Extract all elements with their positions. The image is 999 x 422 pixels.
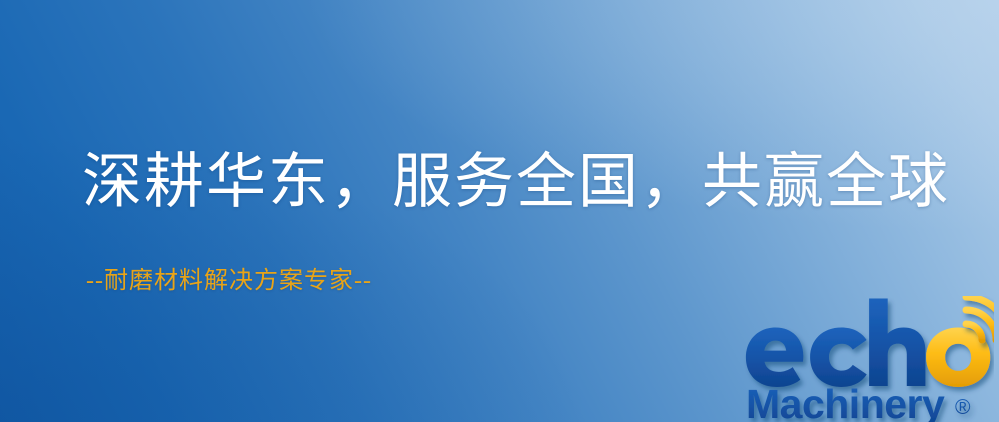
logo-letter-c (810, 328, 867, 388)
logo-tagline-text: Machinery (746, 381, 945, 422)
echo-machinery-logo[interactable]: Machinery ® (742, 296, 994, 422)
banner-subtitle: --耐磨材料解决方案专家-- (86, 269, 372, 293)
logo-letter-h (869, 299, 925, 387)
banner-headline: 深耕华东，服务全国，共赢全球 (82, 152, 950, 212)
logo-tagline-group: Machinery ® (746, 381, 971, 422)
logo-wordmark-echo (746, 299, 990, 388)
logo-letter-e (746, 328, 803, 388)
logo-registered-mark: ® (955, 396, 971, 419)
hero-banner: 深耕华东，服务全国，共赢全球 --耐磨材料解决方案专家-- (0, 0, 999, 422)
